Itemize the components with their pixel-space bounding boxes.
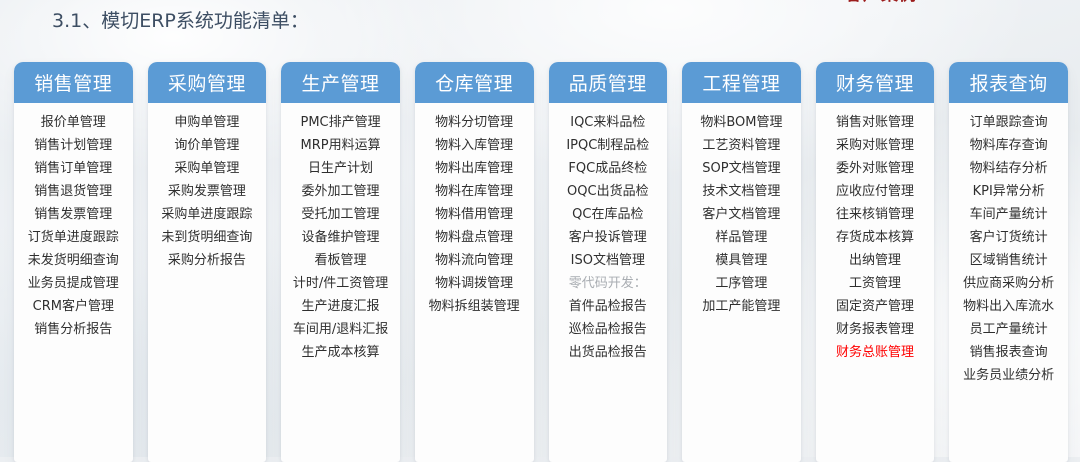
module-item[interactable]: 未发货明细查询 — [27, 249, 120, 272]
module-item[interactable]: IPQC制程品检 — [565, 134, 650, 157]
cut-off-header-text: 客户案例 — [845, 0, 1080, 7]
module-item[interactable]: 工资管理 — [848, 272, 902, 295]
module-item[interactable]: 销售对账管理 — [835, 111, 915, 134]
module-item[interactable]: CRM客户管理 — [32, 295, 115, 318]
page-title: 3.1、模切ERP系统功能清单： — [52, 6, 309, 33]
module-item[interactable]: 销售分析报告 — [33, 318, 113, 341]
module-item[interactable]: 样品管理 — [714, 226, 768, 249]
module-item[interactable]: 采购对账管理 — [835, 134, 915, 157]
module-card-header[interactable]: 销售管理 — [14, 62, 133, 103]
module-item[interactable]: 物料分切管理 — [434, 111, 514, 134]
module-card: 报表查询订单跟踪查询物料库存查询物料结存分析KPI异常分析车间产量统计客户订货统… — [949, 62, 1068, 462]
module-item[interactable]: 员工产量统计 — [969, 318, 1049, 341]
module-card-header[interactable]: 报表查询 — [949, 62, 1068, 103]
module-item[interactable]: 物料入库管理 — [434, 134, 514, 157]
module-item[interactable]: 加工产能管理 — [701, 295, 781, 318]
module-item[interactable]: 受托加工管理 — [301, 203, 381, 226]
module-item[interactable]: 财务总账管理 — [835, 341, 915, 364]
module-item-list: IQC来料品检IPQC制程品检FQC成品终检OQC出货品检QC在库品检客户投诉管… — [549, 103, 668, 462]
module-item[interactable]: 销售报表查询 — [969, 341, 1049, 364]
module-item[interactable]: OQC出货品检 — [566, 180, 650, 203]
module-item[interactable]: 往来核销管理 — [835, 203, 915, 226]
module-item[interactable]: 询价单管理 — [173, 134, 240, 157]
module-item[interactable]: 物料BOM管理 — [699, 111, 783, 134]
module-item[interactable]: 客户投诉管理 — [568, 226, 648, 249]
module-card-grid: 销售管理报价单管理销售计划管理销售订单管理销售退货管理销售发票管理订货单进度跟踪… — [14, 62, 1068, 462]
module-card: 工程管理物料BOM管理工艺资料管理SOP文档管理技术文档管理客户文档管理样品管理… — [682, 62, 801, 462]
module-item[interactable]: 首件品检报告 — [568, 295, 648, 318]
module-item[interactable]: 车间产量统计 — [969, 203, 1049, 226]
module-item[interactable]: KPI异常分析 — [972, 180, 1046, 203]
module-item[interactable]: 物料出入库流水 — [962, 295, 1055, 318]
module-item[interactable]: 销售计划管理 — [33, 134, 113, 157]
module-card-header[interactable]: 品质管理 — [549, 62, 668, 103]
module-item[interactable]: 订货单进度跟踪 — [27, 226, 120, 249]
module-item[interactable]: 区域销售统计 — [969, 249, 1049, 272]
module-item[interactable]: 模具管理 — [714, 249, 768, 272]
module-item[interactable]: 销售发票管理 — [33, 203, 113, 226]
module-item-list: 销售对账管理采购对账管理委外对账管理应收应付管理往来核销管理存货成本核算出纳管理… — [816, 103, 935, 462]
module-item[interactable]: 申购单管理 — [173, 111, 240, 134]
module-item[interactable]: 物料借用管理 — [434, 203, 514, 226]
module-item[interactable]: 巡检品检报告 — [568, 318, 648, 341]
module-item[interactable]: 客户文档管理 — [701, 203, 781, 226]
module-item[interactable]: 客户订货统计 — [969, 226, 1049, 249]
module-item[interactable]: 采购单管理 — [173, 157, 240, 180]
module-item[interactable]: 固定资产管理 — [835, 295, 915, 318]
module-item[interactable]: 业务员业绩分析 — [962, 364, 1055, 387]
module-item[interactable]: 看板管理 — [314, 249, 368, 272]
module-item-list: 申购单管理询价单管理采购单管理采购发票管理采购单进度跟踪未到货明细查询采购分析报… — [148, 103, 267, 462]
module-card: 销售管理报价单管理销售计划管理销售订单管理销售退货管理销售发票管理订货单进度跟踪… — [14, 62, 133, 462]
module-item[interactable]: 设备维护管理 — [301, 226, 381, 249]
module-item[interactable]: 计时/件工资管理 — [292, 272, 389, 295]
module-card-header[interactable]: 工程管理 — [682, 62, 801, 103]
module-item[interactable]: 工序管理 — [714, 272, 768, 295]
module-item[interactable]: 业务员提成管理 — [27, 272, 120, 295]
module-item[interactable]: 采购分析报告 — [167, 249, 247, 272]
module-item[interactable]: 订单跟踪查询 — [969, 111, 1049, 134]
module-item-list: PMC排产管理MRP用料运算日生产计划委外加工管理受托加工管理设备维护管理看板管… — [281, 103, 400, 462]
module-item[interactable]: 物料在库管理 — [434, 180, 514, 203]
module-item[interactable]: 物料流向管理 — [434, 249, 514, 272]
module-card: 生产管理PMC排产管理MRP用料运算日生产计划委外加工管理受托加工管理设备维护管… — [281, 62, 400, 462]
module-item[interactable]: 物料调拨管理 — [434, 272, 514, 295]
module-card: 财务管理销售对账管理采购对账管理委外对账管理应收应付管理往来核销管理存货成本核算… — [816, 62, 935, 462]
module-item[interactable]: PMC排产管理 — [299, 111, 381, 134]
module-item-list: 订单跟踪查询物料库存查询物料结存分析KPI异常分析车间产量统计客户订货统计区域销… — [949, 103, 1068, 462]
module-item[interactable]: 供应商采购分析 — [962, 272, 1055, 295]
module-card-header[interactable]: 生产管理 — [281, 62, 400, 103]
module-item[interactable]: 工艺资料管理 — [701, 134, 781, 157]
module-item[interactable]: 应收应付管理 — [835, 180, 915, 203]
module-item-list: 报价单管理销售计划管理销售订单管理销售退货管理销售发票管理订货单进度跟踪未发货明… — [14, 103, 133, 462]
module-card-header[interactable]: 采购管理 — [148, 62, 267, 103]
module-item[interactable]: 财务报表管理 — [835, 318, 915, 341]
module-item[interactable]: 出纳管理 — [848, 249, 902, 272]
module-item[interactable]: IQC来料品检 — [569, 111, 646, 134]
module-item[interactable]: 出货品检报告 — [568, 341, 648, 364]
module-item[interactable]: MRP用料运算 — [300, 134, 382, 157]
module-item-group-label: 零代码开发： — [568, 272, 648, 295]
module-item[interactable]: 未到货明细查询 — [160, 226, 253, 249]
module-item[interactable]: 物料库存查询 — [969, 134, 1049, 157]
module-item[interactable]: 销售订单管理 — [33, 157, 113, 180]
module-item-list: 物料分切管理物料入库管理物料出库管理物料在库管理物料借用管理物料盘点管理物料流向… — [415, 103, 534, 462]
module-item[interactable]: 委外加工管理 — [301, 180, 381, 203]
module-item[interactable]: FQC成品终检 — [567, 157, 648, 180]
module-card-header[interactable]: 仓库管理 — [415, 62, 534, 103]
module-item-list: 物料BOM管理工艺资料管理SOP文档管理技术文档管理客户文档管理样品管理模具管理… — [682, 103, 801, 462]
module-card: 品质管理IQC来料品检IPQC制程品检FQC成品终检OQC出货品检QC在库品检客… — [549, 62, 668, 462]
module-item[interactable]: 物料结存分析 — [969, 157, 1049, 180]
module-item[interactable]: 生产进度汇报 — [301, 295, 381, 318]
module-item[interactable]: 物料拆组装管理 — [428, 295, 521, 318]
module-item[interactable]: 物料出库管理 — [434, 157, 514, 180]
module-item[interactable]: 车间用/退料汇报 — [292, 318, 389, 341]
module-item[interactable]: 日生产计划 — [307, 157, 374, 180]
module-item[interactable]: 存货成本核算 — [835, 226, 915, 249]
module-item[interactable]: QC在库品检 — [571, 203, 644, 226]
module-item[interactable]: 销售退货管理 — [33, 180, 113, 203]
module-item[interactable]: SOP文档管理 — [701, 157, 781, 180]
module-item[interactable]: 技术文档管理 — [701, 180, 781, 203]
module-item[interactable]: 委外对账管理 — [835, 157, 915, 180]
module-item[interactable]: ISO文档管理 — [570, 249, 646, 272]
module-item[interactable]: 采购发票管理 — [167, 180, 247, 203]
module-item[interactable]: 采购单进度跟踪 — [160, 203, 253, 226]
module-item[interactable]: 报价单管理 — [40, 111, 107, 134]
module-card-header[interactable]: 财务管理 — [816, 62, 935, 103]
module-item[interactable]: 生产成本核算 — [301, 341, 381, 364]
module-item[interactable]: 物料盘点管理 — [434, 226, 514, 249]
module-card: 采购管理申购单管理询价单管理采购单管理采购发票管理采购单进度跟踪未到货明细查询采… — [148, 62, 267, 462]
module-card: 仓库管理物料分切管理物料入库管理物料出库管理物料在库管理物料借用管理物料盘点管理… — [415, 62, 534, 462]
